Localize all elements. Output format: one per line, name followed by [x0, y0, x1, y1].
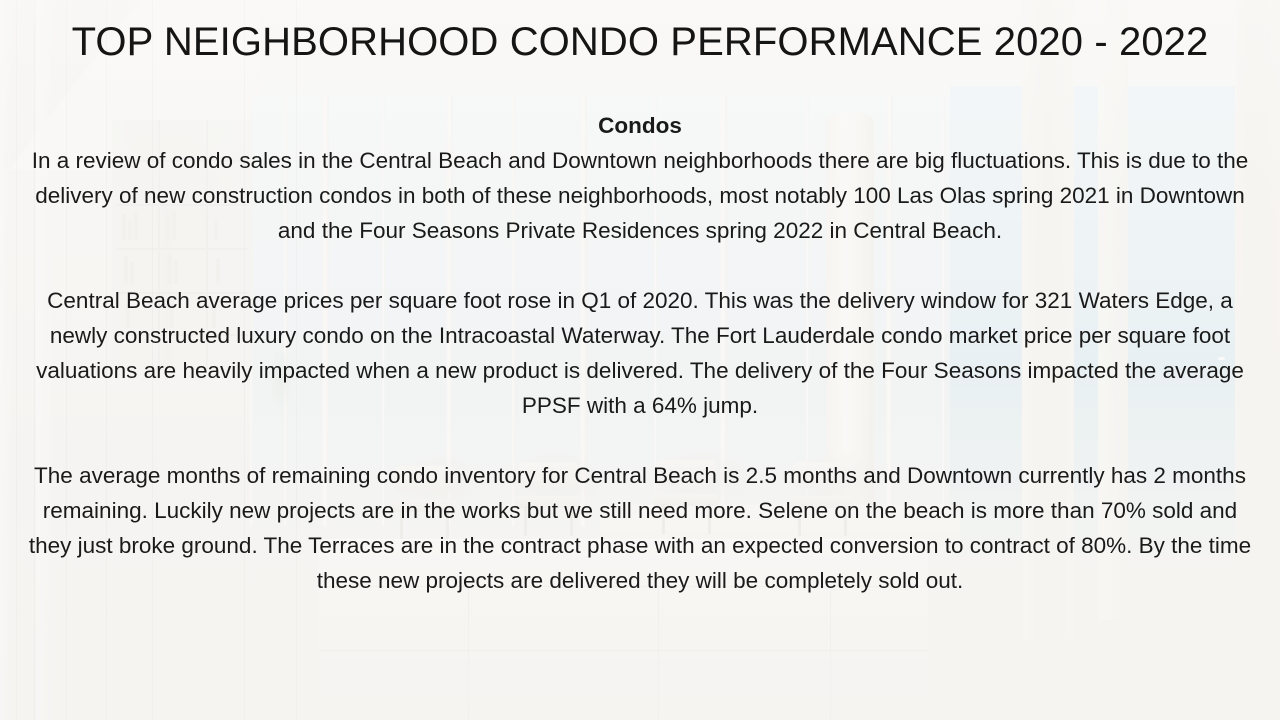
presentation-slide: TOP NEIGHBORHOOD CONDO PERFORMANCE 2020 … — [0, 0, 1280, 720]
paragraph-1: In a review of condo sales in the Centra… — [26, 143, 1254, 248]
page-title: TOP NEIGHBORHOOD CONDO PERFORMANCE 2020 … — [0, 18, 1280, 66]
paragraph-3: The average months of remaining condo in… — [26, 458, 1254, 598]
slide-content: TOP NEIGHBORHOOD CONDO PERFORMANCE 2020 … — [0, 0, 1280, 720]
body-text-block: Condos In a review of condo sales in the… — [26, 108, 1254, 598]
section-heading-condos: Condos — [26, 108, 1254, 143]
paragraph-2: Central Beach average prices per square … — [26, 283, 1254, 423]
paragraph-spacer — [26, 423, 1254, 458]
paragraph-spacer — [26, 248, 1254, 283]
